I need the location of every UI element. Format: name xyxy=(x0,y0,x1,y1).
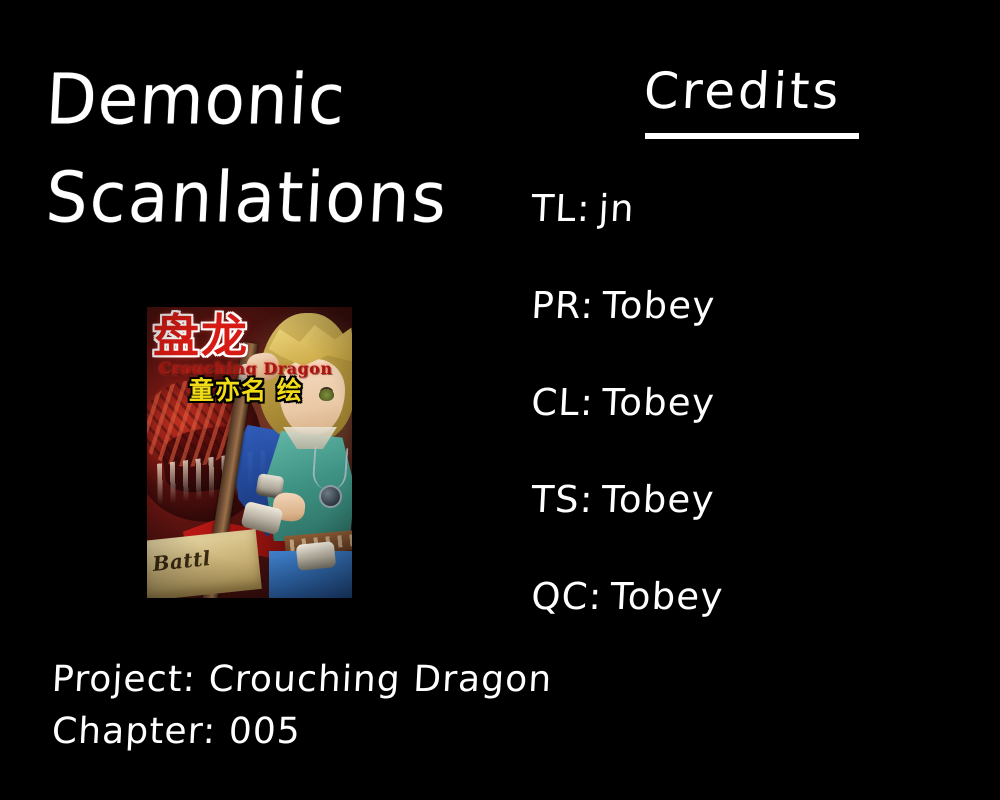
hero-necklace-chain xyxy=(312,446,349,490)
project-info: Project: Crouching Dragon Chapter: 005 xyxy=(52,654,552,758)
credits-heading: Credits xyxy=(642,60,843,122)
credits-heading-underline xyxy=(645,133,859,139)
series-cover-thumbnail: Battl 盘龙 Crouching Dragon 童亦名 绘 xyxy=(147,307,352,598)
credit-row: QC:Tobey xyxy=(527,574,962,671)
credit-separator: : xyxy=(579,478,603,521)
credit-person: Tobey xyxy=(601,284,716,327)
group-title: Demonic Scanlations xyxy=(46,52,506,246)
credit-separator: : xyxy=(576,187,600,230)
chapter-number-line: Chapter: 005 xyxy=(51,706,554,758)
credit-person: jn xyxy=(598,187,636,230)
credit-separator: : xyxy=(588,575,612,618)
credit-separator: : xyxy=(579,381,603,424)
parchment-scroll-shape: Battl xyxy=(147,529,262,598)
group-title-line-1: Demonic xyxy=(43,49,508,151)
credit-role: QC xyxy=(530,575,590,618)
credit-role: CL xyxy=(530,381,581,424)
credits-page: Demonic Scanlations Credits TL:jn PR:Tob… xyxy=(0,0,1000,800)
credits-list: TL:jn PR:Tobey CL:Tobey TS:Tobey QC:Tobe… xyxy=(530,186,960,671)
credit-person: Tobey xyxy=(601,381,716,424)
group-title-line-2: Scanlations xyxy=(43,147,508,249)
credit-row: PR:Tobey xyxy=(527,283,962,380)
hero-bracer-right xyxy=(296,541,337,571)
credit-row: TS:Tobey xyxy=(527,477,962,574)
credit-row: TL:jn xyxy=(527,186,962,283)
cover-title-chinese: 盘龙 xyxy=(153,313,249,359)
credit-person: Tobey xyxy=(600,478,715,521)
credit-separator: : xyxy=(580,284,604,327)
hero-eye-right xyxy=(319,389,334,401)
credit-role: TL xyxy=(530,187,578,230)
cover-author-credit: 童亦名 绘 xyxy=(189,377,303,405)
scroll-text: Battl xyxy=(151,546,212,576)
credit-row: CL:Tobey xyxy=(527,380,962,477)
credit-role: TS xyxy=(530,478,581,521)
credit-role: PR xyxy=(530,284,582,327)
project-name-line: Project: Crouching Dragon xyxy=(51,654,554,706)
hero-pendant-icon xyxy=(319,485,342,508)
cover-artwork: Battl 盘龙 Crouching Dragon 童亦名 绘 xyxy=(147,307,352,598)
credit-person: Tobey xyxy=(609,575,724,618)
